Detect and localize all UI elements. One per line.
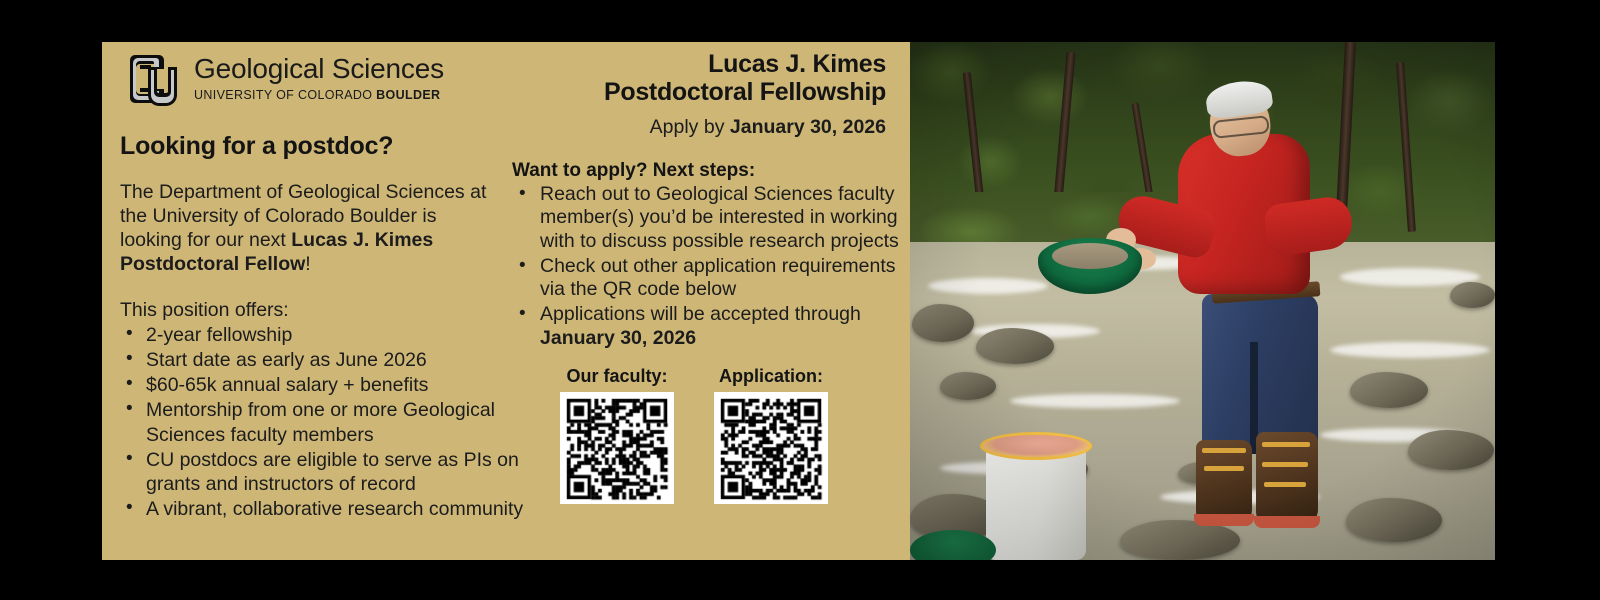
step-text: Applications will be accepted through <box>540 303 861 325</box>
cu-logo-icon <box>120 52 184 112</box>
water-foam <box>1330 342 1490 358</box>
fellowship-title: Lucas J. Kimes Postdoctoral Fellowship <box>512 50 902 107</box>
page-headline: Looking for a postdoc? <box>120 132 530 161</box>
list-item: Check out other application requirements… <box>512 255 902 302</box>
list-item: Applications will be accepted through Ja… <box>512 303 902 350</box>
brand-text-block: Geological Sciences UNIVERSITY OF COLORA… <box>194 50 444 102</box>
intro-text-2: ! <box>305 253 310 275</box>
river-rock <box>976 328 1054 364</box>
boot-sole <box>1194 514 1254 526</box>
water-foam <box>928 278 1048 294</box>
department-name: Geological Sciences <box>194 54 444 83</box>
river-rock <box>1346 498 1442 542</box>
poster-panel: Geological Sciences UNIVERSITY OF COLORA… <box>102 42 910 560</box>
boot-lace <box>1204 466 1244 471</box>
boot-lace <box>1262 442 1310 447</box>
river-rock <box>1350 372 1428 408</box>
list-item: 2-year fellowship <box>120 323 530 347</box>
apply-by-prefix: Apply by <box>650 116 730 138</box>
boot-sole <box>1254 516 1320 528</box>
next-steps-list: Reach out to Geological Sciences faculty… <box>512 183 902 351</box>
qr-code-group: Our faculty: Application: <box>512 366 902 504</box>
fellowship-title-line1: Lucas J. Kimes <box>512 50 886 78</box>
list-item: $60-65k annual salary + benefits <box>120 373 530 397</box>
brand-lockup: Geological Sciences UNIVERSITY OF COLORA… <box>120 50 530 112</box>
water-foam <box>1010 394 1180 408</box>
list-item: Start date as early as June 2026 <box>120 348 530 372</box>
photo-gold-panner <box>910 42 1495 560</box>
list-item: Reach out to Geological Sciences faculty… <box>512 183 902 254</box>
boot-lace <box>1202 448 1246 453</box>
person-jeans <box>1202 294 1318 454</box>
offers-label: This position offers: <box>120 299 530 322</box>
apply-by-line: Apply by January 30, 2026 <box>512 116 902 139</box>
boot-lace <box>1264 482 1306 487</box>
left-column: Geological Sciences UNIVERSITY OF COLORA… <box>120 50 530 521</box>
university-text: UNIVERSITY OF COLORADO <box>194 88 376 102</box>
qr-code-faculty[interactable] <box>560 392 674 504</box>
next-steps-heading: Want to apply? Next steps: <box>512 160 902 182</box>
boot-lace <box>1262 462 1308 467</box>
river-rock <box>940 372 996 400</box>
river-rock <box>1120 520 1240 560</box>
list-item: Mentorship from one or more Geological S… <box>120 398 530 446</box>
bucket-lid <box>980 432 1092 460</box>
qr-code-application[interactable] <box>714 392 828 504</box>
river-rock <box>912 304 974 342</box>
list-item: CU postdocs are eligible to serve as PIs… <box>120 448 530 496</box>
qr-label-faculty: Our faculty: <box>560 366 674 387</box>
river-rock <box>1450 282 1495 308</box>
river-rock <box>1408 430 1494 470</box>
apply-by-date: January 30, 2026 <box>730 116 886 138</box>
fellowship-title-line2: Postdoctoral Fellowship <box>512 78 886 106</box>
qr-block-faculty: Our faculty: <box>560 366 674 504</box>
offers-list: 2-year fellowship Start date as early as… <box>120 323 530 521</box>
boulder-text: BOULDER <box>376 88 440 102</box>
university-line: UNIVERSITY OF COLORADO BOULDER <box>194 88 444 102</box>
screenshot-root: Geological Sciences UNIVERSITY OF COLORA… <box>0 0 1600 600</box>
step-bold-date: January 30, 2026 <box>540 327 696 349</box>
gold-pan-sediment <box>1052 243 1128 269</box>
qr-block-application: Application: <box>714 366 828 504</box>
right-column: Lucas J. Kimes Postdoctoral Fellowship A… <box>512 50 902 504</box>
qr-label-application: Application: <box>714 366 828 387</box>
intro-paragraph: The Department of Geological Sciences at… <box>120 181 500 277</box>
list-item: A vibrant, collaborative research commun… <box>120 497 530 521</box>
